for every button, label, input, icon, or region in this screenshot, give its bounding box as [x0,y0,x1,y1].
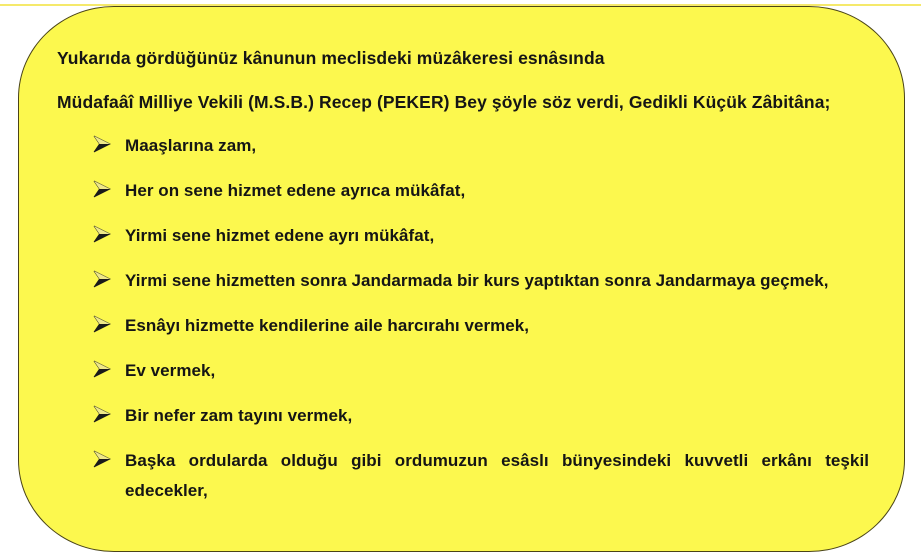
list-item-label: Yirmi sene hizmet edene ayrı mükâfat, [125,226,434,245]
list-item: Bir nefer zam tayını vermek, [57,401,869,431]
list-item: Yirmi sene hizmetten sonra Jandarmada bi… [57,266,869,296]
yellow-callout-card: Yukarıda gördüğünüz kânunun meclisdeki m… [18,6,905,552]
list-item-label: Esnâyı hizmette kendilerine aile harcıra… [125,316,529,335]
arrowhead-bullet-icon [91,133,115,157]
list-item: Her on sene hizmet edene ayrıca mükâfat, [57,176,869,206]
promise-list: Maaşlarına zam, Her on sene hizmet edene… [57,131,869,506]
card-content: Yukarıda gördüğünüz kânunun meclisdeki m… [57,43,869,521]
list-item-label: Ev vermek, [125,361,215,380]
arrowhead-bullet-icon [91,358,115,382]
arrowhead-bullet-icon [91,268,115,292]
list-item-label: Maaşlarına zam, [125,136,256,155]
list-item-label: Yirmi sene hizmetten sonra Jandarmada bi… [125,271,829,290]
arrowhead-bullet-icon [91,313,115,337]
list-item-label: Her on sene hizmet edene ayrıca mükâfat, [125,181,465,200]
list-item: Başka ordularda olduğu gibi ordumuzun es… [57,446,869,506]
list-item: Ev vermek, [57,356,869,386]
intro-paragraph-1: Yukarıda gördüğünüz kânunun meclisdeki m… [57,43,869,74]
list-item: Maaşlarına zam, [57,131,869,161]
intro-paragraph-2: Müdafaâî Milliye Vekili (M.S.B.) Recep (… [57,87,869,118]
list-item-label: Bir nefer zam tayını vermek, [125,406,352,425]
arrowhead-bullet-icon [91,223,115,247]
arrowhead-bullet-icon [91,448,115,472]
list-item-label: Başka ordularda olduğu gibi ordumuzun es… [125,451,869,500]
arrowhead-bullet-icon [91,178,115,202]
list-item: Yirmi sene hizmet edene ayrı mükâfat, [57,221,869,251]
arrowhead-bullet-icon [91,403,115,427]
list-item: Esnâyı hizmette kendilerine aile harcıra… [57,311,869,341]
